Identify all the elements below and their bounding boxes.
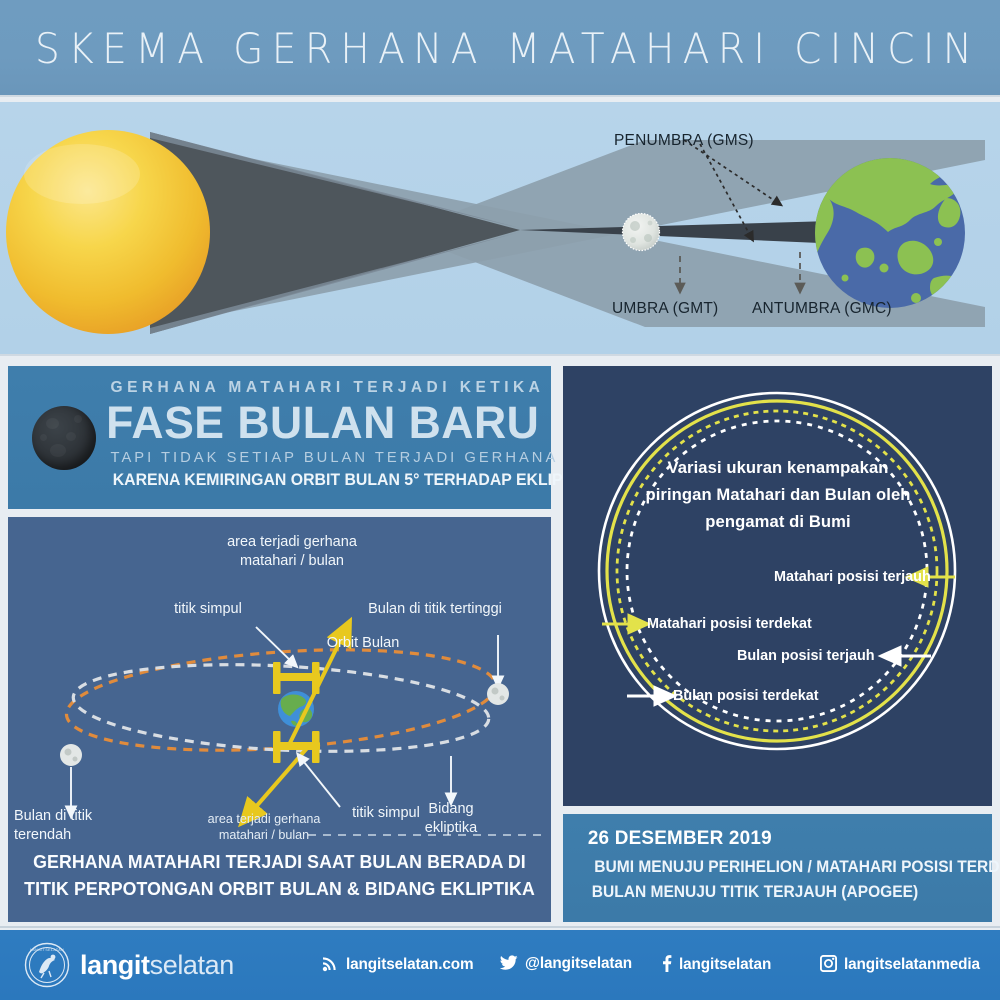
new-moon-headline: FASE BULAN BARU (106, 399, 538, 447)
orbit-footer-l2: TITIK PERPOTONGAN ORBIT BULAN & BIDANG E… (16, 875, 543, 902)
social-website[interactable]: langitselatan.com (322, 955, 474, 977)
social-website-label: langitselatan.com (346, 956, 474, 973)
footer-bar: LANGITSELATAN langitselatan langitselata… (0, 930, 1000, 1000)
diagram-divider (0, 354, 1000, 356)
eclipse-diagram: PENUMBRA (GMS) UMBRA (GMT) ANTUMBRA (GMC… (0, 102, 1000, 354)
new-moon-subline: TAPI TIDAK SETIAP BULAN TERJADI GERHANA (111, 449, 534, 466)
node-top-leader (256, 627, 294, 664)
moon-icon (623, 214, 660, 251)
facebook-icon (661, 955, 672, 977)
social-twitter[interactable]: @langitselatan (500, 955, 632, 976)
apparent-size-title: Variasi ukuran kenampakan piringan Matah… (598, 454, 958, 535)
twitter-icon (500, 955, 518, 976)
label-eclipse-area-top: area terjadi gerhana matahari / bulan (192, 533, 392, 571)
apparent-size-panel: Variasi ukuran kenampakan piringan Matah… (563, 366, 992, 806)
moon-high-marker (487, 683, 509, 705)
eclipse-date: 26 DESEMBER 2019 (588, 827, 772, 850)
new-moon-panel: GERHANA MATAHARI TERJADI KETIKA FASE BUL… (8, 366, 551, 509)
svg-text:LANGITSELATAN: LANGITSELATAN (30, 948, 64, 952)
label-moon-far: Bulan posisi terjauh (737, 648, 875, 664)
date-note-l1: BUMI MENUJU PERIHELION / MATAHARI POSISI… (594, 858, 1000, 877)
new-moon-text-block: GERHANA MATAHARI TERJADI KETIKA FASE BUL… (104, 379, 540, 490)
label-moon-low-l1: Bulan di titik (14, 807, 134, 826)
social-facebook[interactable]: langitselatan (661, 955, 771, 977)
footer-divider (0, 926, 1000, 928)
label-ecliptic-l1: Bidang (396, 800, 506, 819)
social-facebook-label: langitselatan (679, 956, 771, 973)
rss-icon (322, 955, 339, 977)
node-marker-top (273, 662, 320, 694)
brand-bold: langit (80, 950, 150, 980)
label-ecliptic-plane: Bidang ekliptika (396, 800, 506, 838)
brand-wordmark[interactable]: langitselatan (80, 950, 234, 981)
social-twitter-label: @langitselatan (525, 955, 632, 972)
node-bottom-leader (300, 757, 340, 807)
label-penumbra: PENUMBRA (GMS) (614, 132, 754, 150)
header-divider (0, 95, 1000, 97)
orbit-footer-l1: GERHANA MATAHARI TERJADI SAAT BULAN BERA… (16, 848, 543, 875)
new-moon-icon (32, 406, 96, 470)
moon-low-marker (60, 744, 82, 766)
header-banner: SKEMA GERHANA MATAHARI CINCIN (0, 0, 1000, 95)
label-eclipse-area-top-l2: matahari / bulan (192, 552, 392, 571)
label-eclipse-area-bottom: area terjadi gerhana matahari / bulan (174, 811, 354, 843)
social-instagram[interactable]: langitselatanmedia (820, 955, 980, 977)
label-sun-near: Matahari posisi terdekat (647, 616, 812, 632)
label-antumbra: ANTUMBRA (GMC) (752, 300, 892, 318)
date-note-l2: BULAN MENUJU TITIK TERJAUH (APOGEE) (592, 883, 918, 902)
label-ecliptic-l2: ekliptika (396, 819, 506, 838)
label-moon-near: Bulan posisi terdekat (673, 688, 819, 704)
apparent-size-title-l3: pengamat di Bumi (598, 508, 958, 535)
label-moon-low-l2: terendah (14, 826, 134, 845)
date-panel: 26 DESEMBER 2019 BUMI MENUJU PERIHELION … (563, 814, 992, 922)
apparent-size-title-l1: Variasi ukuran kenampakan (598, 454, 958, 481)
brand-light: selatan (150, 950, 234, 980)
apparent-size-svg (563, 366, 992, 806)
label-moon-low: Bulan di titik terendah (14, 807, 134, 845)
new-moon-note: KARENA KEMIRINGAN ORBIT BULAN 5° TERHADA… (113, 471, 532, 490)
langitselatan-logo-icon[interactable]: LANGITSELATAN (24, 942, 70, 988)
infographic-page: SKEMA GERHANA MATAHARI CINCIN (0, 0, 1000, 1000)
label-moon-high: Bulan di titik tertinggi (340, 600, 530, 619)
social-instagram-label: langitselatanmedia (844, 956, 980, 973)
label-eclipse-area-bottom-l1: area terjadi gerhana (174, 811, 354, 827)
label-node-top: titik simpul (143, 600, 273, 619)
label-umbra: UMBRA (GMT) (612, 300, 718, 318)
orbit-panel: area terjadi gerhana matahari / bulan ti… (8, 517, 551, 922)
instagram-icon (820, 955, 837, 977)
orbit-footer-text: GERHANA MATAHARI TERJADI SAAT BULAN BERA… (16, 848, 543, 902)
page-title: SKEMA GERHANA MATAHARI CINCIN (35, 24, 965, 73)
label-eclipse-area-top-l1: area terjadi gerhana (192, 533, 392, 552)
label-eclipse-area-bottom-l2: matahari / bulan (174, 827, 354, 843)
label-moon-orbit: Orbit Bulan (298, 634, 428, 653)
apparent-size-title-l2: piringan Matahari dan Bulan oleh (598, 481, 958, 508)
label-sun-far: Matahari posisi terjauh (774, 569, 931, 585)
new-moon-kicker: GERHANA MATAHARI TERJADI KETIKA (111, 379, 534, 397)
